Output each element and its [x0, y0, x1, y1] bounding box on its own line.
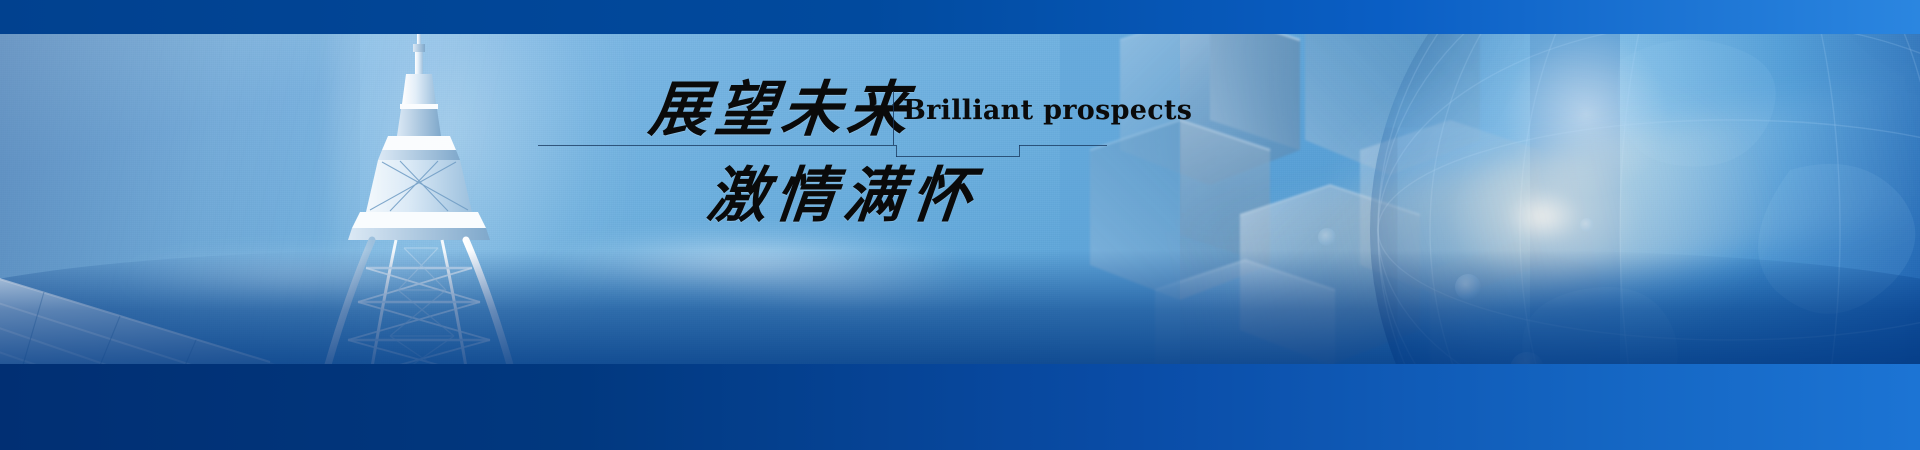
- bottom-color-band: [0, 364, 1920, 450]
- headline-english-tagline: Brilliant prospects: [903, 95, 1192, 126]
- title-rule-left: [538, 145, 896, 146]
- title-rule-right: [1019, 145, 1107, 146]
- title-rule-corner-right: [1019, 145, 1020, 157]
- bokeh-dot: [1318, 228, 1336, 246]
- headline-chinese-line-1: 展望未来: [645, 61, 918, 148]
- hero-banner: 展望未来 Brilliant prospects 激情满怀: [0, 0, 1920, 450]
- headline-block: 展望未来 Brilliant prospects 激情满怀: [650, 55, 1290, 235]
- top-color-band: [0, 0, 1920, 34]
- bokeh-dot: [1580, 218, 1594, 232]
- headline-chinese-line-2: 激情满怀: [703, 147, 984, 234]
- title-divider-vertical: [893, 91, 894, 145]
